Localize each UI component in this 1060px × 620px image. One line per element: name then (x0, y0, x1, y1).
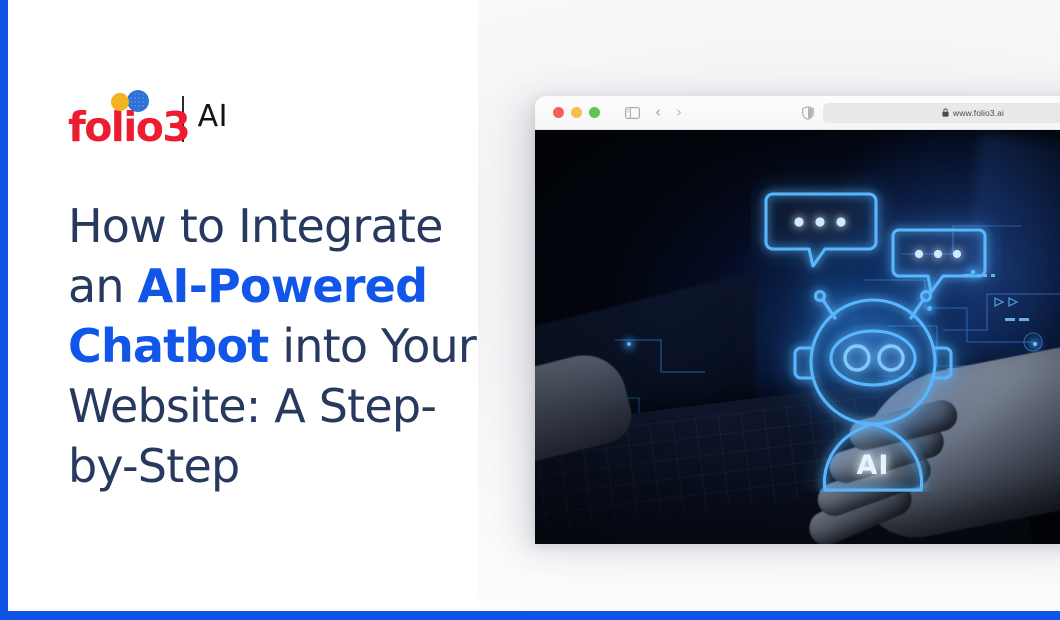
lock-icon (942, 108, 949, 117)
hero-photo: AI (535, 130, 1060, 544)
brand-logo[interactable]: folio3 AI (68, 92, 228, 146)
logo-dot-yellow-icon (111, 93, 129, 111)
maximize-button-icon[interactable] (589, 107, 600, 118)
browser-window-mockup: ‹ › www.folio3.ai (535, 96, 1060, 544)
glow-particle (1033, 342, 1037, 346)
toolbar-right-group: www.folio3.ai (802, 103, 1060, 123)
close-button-icon[interactable] (553, 107, 564, 118)
logo-mark: folio3 (68, 92, 174, 146)
traffic-light-group (553, 107, 600, 118)
bot-ai-badge: AI (857, 450, 890, 481)
minimize-button-icon[interactable] (571, 107, 582, 118)
navigation-controls: ‹ › (625, 105, 682, 120)
browser-toolbar: ‹ › www.folio3.ai (535, 96, 1060, 130)
logo-wordmark: folio3 (68, 107, 189, 148)
glow-particle (627, 342, 631, 346)
logo-suffix: AI (198, 102, 228, 136)
address-bar[interactable]: www.folio3.ai (823, 103, 1060, 123)
page-title: How to Integrate an AI-Powered Chatbot i… (68, 196, 478, 496)
logo-dot-blue-icon (127, 90, 149, 112)
frame-accent-left (0, 0, 8, 620)
forward-button-icon[interactable]: › (676, 105, 682, 120)
left-content-column: folio3 AI How to Integrate an AI-Powered… (68, 0, 488, 611)
ai-chatbot-hologram: AI (751, 172, 1001, 492)
privacy-shield-icon[interactable] (802, 106, 814, 120)
page-canvas: folio3 AI How to Integrate an AI-Powered… (8, 0, 1060, 611)
back-button-icon[interactable]: ‹ (655, 105, 661, 120)
frame-accent-bottom (0, 611, 1060, 620)
sidebar-toggle-icon[interactable] (625, 107, 640, 119)
url-text: www.folio3.ai (953, 108, 1004, 118)
